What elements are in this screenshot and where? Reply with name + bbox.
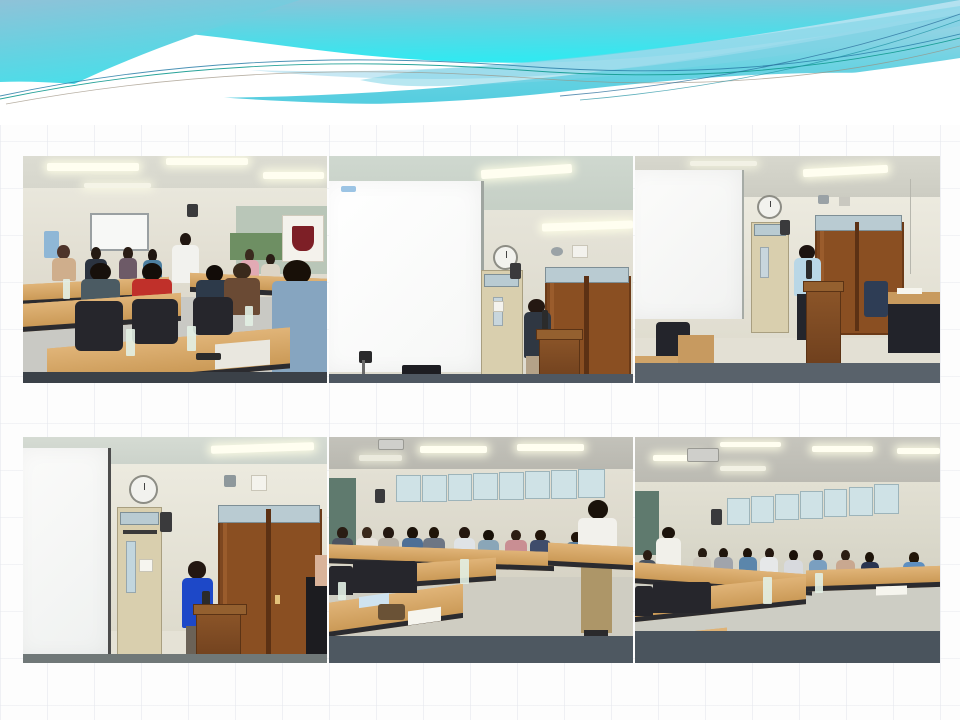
photo-5-classroom-audience [329,437,633,663]
photo-row-bottom [23,437,938,663]
presentation-slide [0,0,960,720]
photo-6-classroom-audience [635,437,940,663]
photo-4-presenter-podium [23,437,327,663]
photo-3-presenter-podium [635,156,940,383]
photo-2-presenter-podium [329,156,633,383]
photo-row-top [23,156,938,383]
wave-banner [0,0,960,125]
photo-1-classroom-audience [23,156,327,383]
photo-grid [23,156,938,663]
